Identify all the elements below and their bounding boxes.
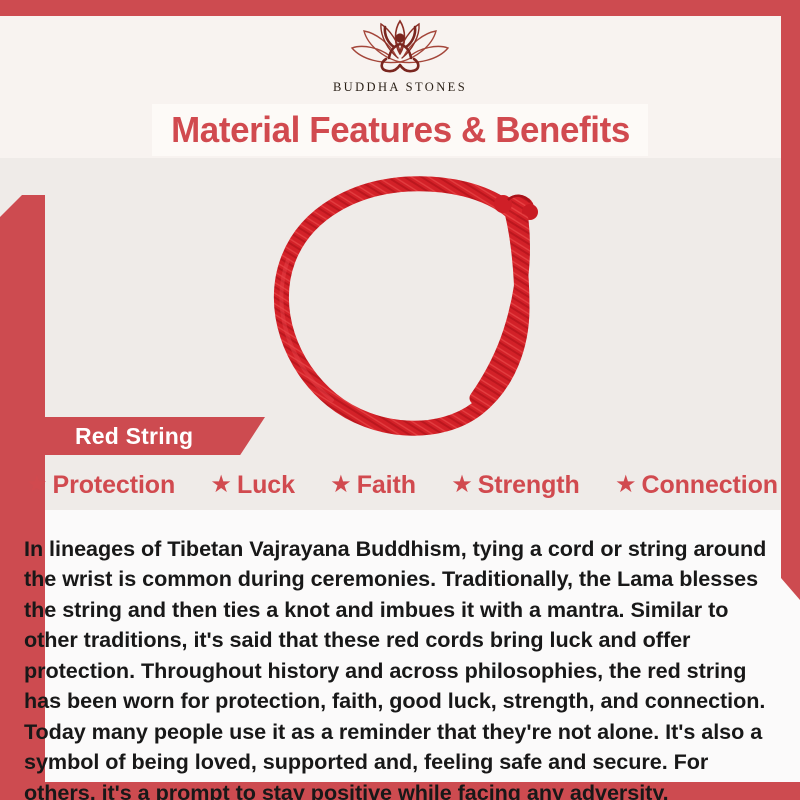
benefit-label: Luck: [237, 471, 295, 500]
ribbon-label: Red String: [75, 423, 193, 450]
benefit-item: ★ Connection: [615, 471, 778, 500]
page-title: Material Features & Benefits: [171, 109, 630, 151]
benefit-item: ★ Faith: [330, 471, 416, 500]
star-icon: ★: [615, 473, 637, 497]
title-banner: Material Features & Benefits: [152, 104, 648, 156]
brand-name: BUDDHA STONES: [333, 80, 467, 95]
star-icon: ★: [210, 473, 232, 497]
lotus-meditation-icon: [330, 18, 470, 78]
benefit-item: ★ Strength: [451, 471, 580, 500]
product-name-ribbon: Red String: [17, 417, 265, 455]
brand-logo: BUDDHA STONES: [0, 18, 800, 100]
benefit-label: Faith: [357, 471, 416, 500]
infographic-page: BUDDHA STONES Material Features & Benefi…: [0, 0, 800, 800]
benefit-item: ★ Protection: [26, 471, 175, 500]
description-paragraph: In lineages of Tibetan Vajrayana Buddhis…: [24, 534, 776, 800]
benefit-item: ★ Luck: [210, 471, 294, 500]
benefits-list: ★ Protection ★ Luck ★ Faith ★ Strength ★…: [26, 466, 778, 504]
star-icon: ★: [26, 473, 48, 497]
star-icon: ★: [330, 473, 352, 497]
benefit-label: Protection: [53, 471, 176, 500]
decorative-border-top: [0, 0, 800, 16]
star-icon: ★: [451, 473, 473, 497]
benefit-label: Strength: [478, 471, 580, 500]
benefit-label: Connection: [641, 471, 778, 500]
product-image-red-string-bracelet: [250, 160, 570, 460]
